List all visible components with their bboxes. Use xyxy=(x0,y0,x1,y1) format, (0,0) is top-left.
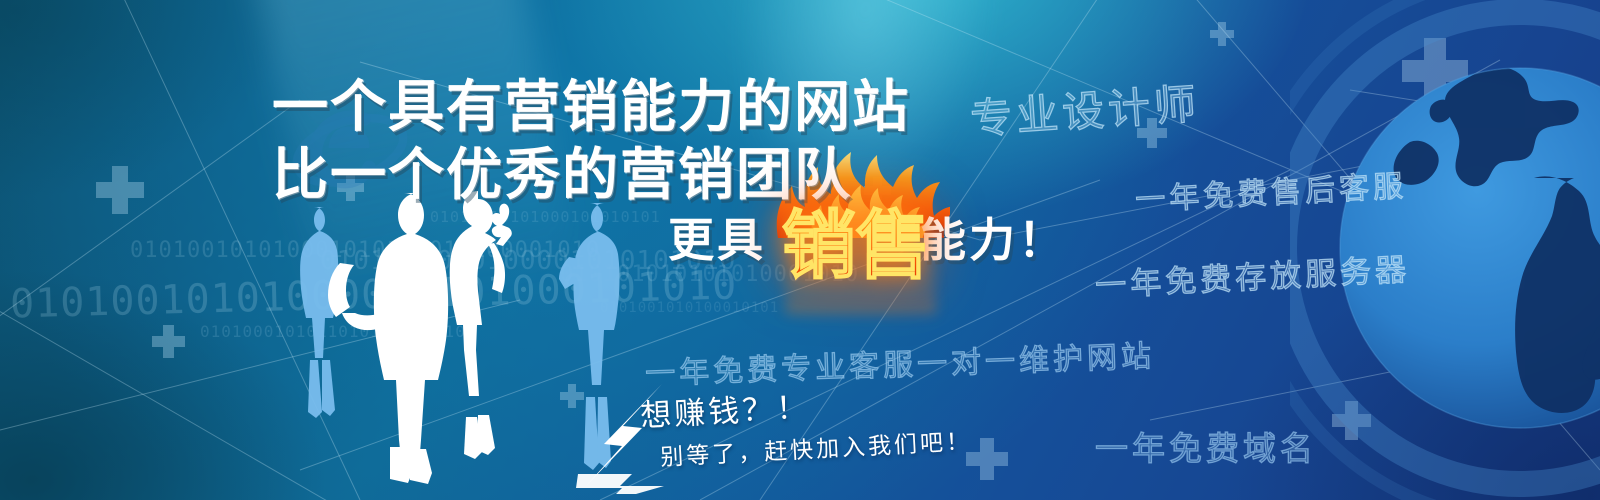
flame-word-sales: 销售 xyxy=(782,186,930,293)
silhouette-man-front xyxy=(328,193,448,484)
marketing-banner: 01010010101000010101000101010 0101001010… xyxy=(0,0,1600,500)
feature-text-domain: 一年免费域名 xyxy=(1095,422,1317,470)
silhouette-woman-front xyxy=(450,191,512,459)
silhouette-woman-back xyxy=(300,207,338,418)
callout-line-1: 想赚钱？！ xyxy=(639,382,811,436)
